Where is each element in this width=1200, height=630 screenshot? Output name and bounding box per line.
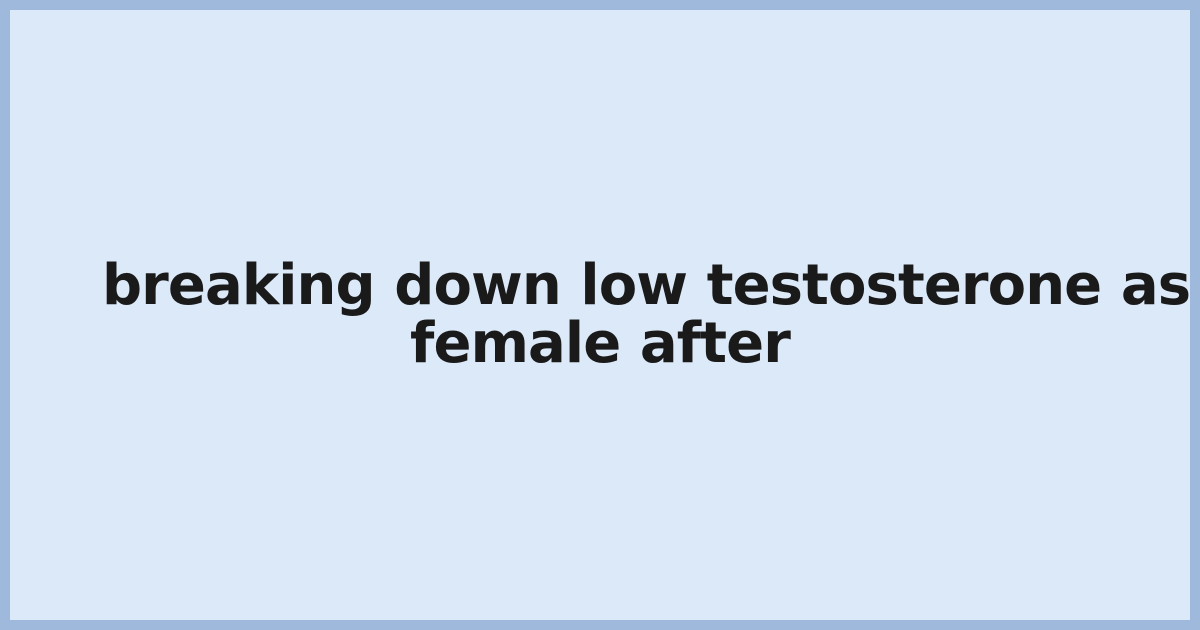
og-card: breaking down low testosterone as a fema… [0, 0, 1200, 630]
headline-line-1: breaking down low testosterone as a [102, 257, 1098, 315]
page-title: breaking down low testosterone as a fema… [102, 257, 1098, 373]
headline-line-2: female after [102, 315, 1098, 373]
card-canvas: breaking down low testosterone as a fema… [10, 10, 1190, 620]
